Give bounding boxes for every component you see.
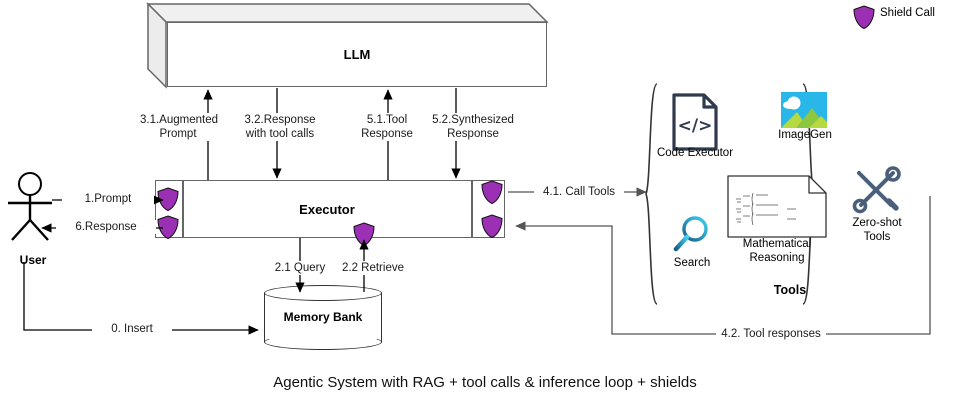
edge-label-tool-responses: 4.2. Tool responses xyxy=(716,327,826,341)
edge-label-aug-prompt: 3.1.Augmented Prompt xyxy=(140,113,216,141)
tool-label-code-executor: Code Executor xyxy=(645,146,745,160)
tool-label-zero-shot-tools: Zero-shot Tools xyxy=(838,216,916,244)
shield-icon-exec-memory xyxy=(354,223,374,246)
edge-label-insert: 0. Insert xyxy=(92,322,172,336)
edge-label-tool-resp-llm: 5.1.Tool Response xyxy=(352,113,422,141)
image-icon[interactable] xyxy=(781,92,827,128)
shield-icon-legend xyxy=(854,6,874,29)
shield-icon-exec-out-1 xyxy=(482,181,502,204)
edge-label-call-tools: 4.1. Call Tools xyxy=(534,185,624,199)
edge-label-query: 2.1 Query xyxy=(266,261,334,275)
tools-group-label: Tools xyxy=(700,283,880,297)
user-label: User xyxy=(0,253,66,267)
svg-text:</>: </> xyxy=(678,116,713,136)
edge-label-synth-resp: 5.2.Synthesized Response xyxy=(428,113,518,141)
legend-label: Shield Call xyxy=(880,7,935,19)
user-actor[interactable] xyxy=(6,172,62,242)
wrench-screwdriver-icon[interactable] xyxy=(851,165,901,215)
shield-icon-exec-in-2 xyxy=(158,216,178,239)
tool-label-math-reasoning: Mathematical Reasoning xyxy=(722,237,832,265)
cylinder-top xyxy=(264,285,382,301)
shield-icon-exec-out-2 xyxy=(482,215,502,238)
shield-icon-exec-in-1 xyxy=(158,188,178,211)
code-document-icon[interactable]: </> xyxy=(672,93,718,151)
formula-page-icon[interactable] xyxy=(727,175,827,238)
figure-caption: Agentic System with RAG + tool calls & i… xyxy=(0,374,970,391)
cylinder-bottom xyxy=(264,334,382,350)
magnifier-icon[interactable] xyxy=(672,215,712,255)
edge-label-response: 6.Response xyxy=(56,220,156,234)
edge-label-retrieve: 2.2 Retrieve xyxy=(334,261,412,275)
tool-label-search: Search xyxy=(655,256,729,270)
tool-label-imagegen: ImageGen xyxy=(762,128,848,142)
memory-bank-label: Memory Bank xyxy=(264,310,382,324)
edge-label-prompt: 1.Prompt xyxy=(62,192,154,206)
edge-label-resp-tools: 3.2.Response with tool calls xyxy=(238,113,322,141)
